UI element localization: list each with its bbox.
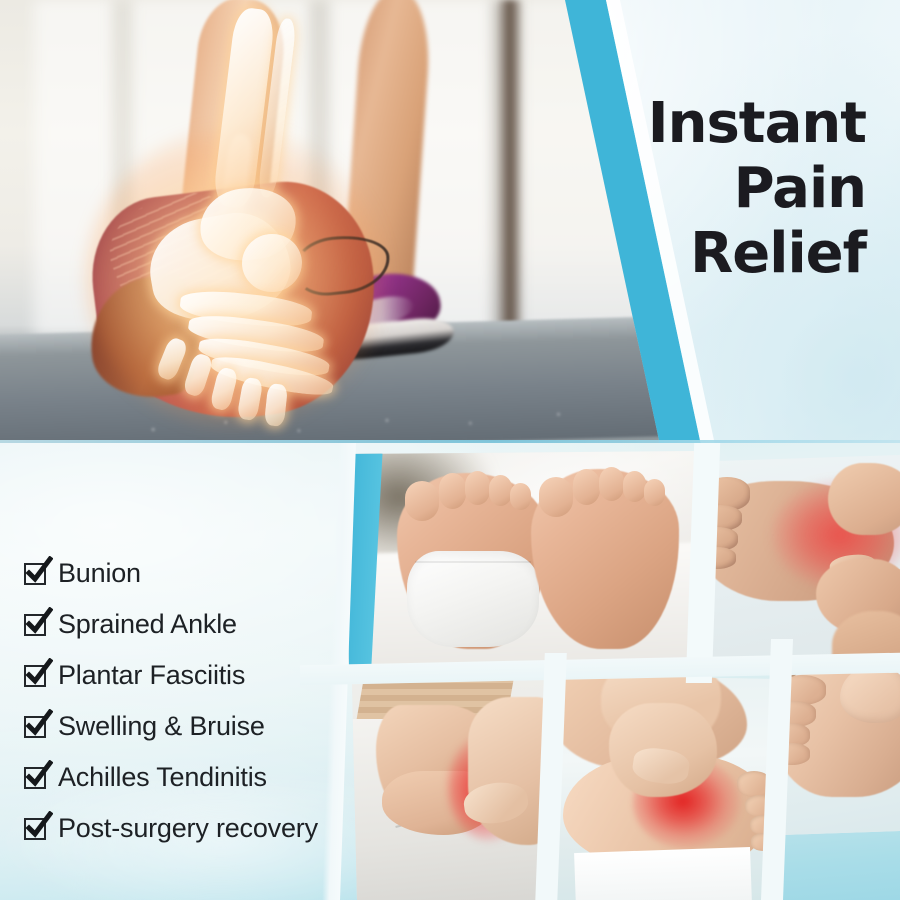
checklist-item: Post-surgery recovery xyxy=(24,803,389,854)
hero-section: Instant Pain Relief xyxy=(0,0,900,445)
checklist-item: Sprained Ankle xyxy=(24,599,389,650)
checklist-item: Swelling & Bruise xyxy=(24,701,389,752)
checklist-item-label: Plantar Fasciitis xyxy=(58,660,245,691)
checkbox-checked-icon xyxy=(24,614,46,636)
toes-group xyxy=(712,483,816,593)
checkbox-checked-icon xyxy=(24,716,46,738)
tile-a-image xyxy=(345,451,700,666)
photo-feet-with-patch xyxy=(345,451,700,666)
front-foot-group xyxy=(72,38,402,438)
checkbox-checked-icon xyxy=(24,767,46,789)
photo-sole-arch-pain xyxy=(557,671,775,900)
checklist-item-label: Bunion xyxy=(58,558,141,589)
upper-hand xyxy=(828,463,900,535)
headline: Instant Pain Relief xyxy=(536,92,866,287)
checkbox-checked-icon xyxy=(24,818,46,840)
checklist-item-label: Post-surgery recovery xyxy=(58,813,318,844)
checklist-item: Plantar Fasciitis xyxy=(24,650,389,701)
phalanx-5 xyxy=(264,383,288,427)
photo-hands-holding-foot xyxy=(712,455,900,665)
xray-bone-overlay xyxy=(72,38,402,438)
left-foot xyxy=(397,473,547,649)
checklist-item-label: Sprained Ankle xyxy=(58,609,237,640)
right-foot xyxy=(531,469,679,649)
product-marketing-image: Instant Pain Relief xyxy=(0,0,900,900)
tile-b-image xyxy=(712,455,900,665)
white-towel xyxy=(574,847,752,900)
checklist-item: Bunion xyxy=(24,548,389,599)
toes-group xyxy=(782,677,860,787)
checkbox-checked-icon xyxy=(24,563,46,585)
adhesive-patch xyxy=(407,551,539,647)
headline-line-1: Instant xyxy=(536,92,866,157)
headline-line-3: Relief xyxy=(536,222,866,287)
toes-group xyxy=(537,465,677,523)
checklist-item-label: Achilles Tendinitis xyxy=(58,762,267,793)
checklist-item: Achilles Tendinitis xyxy=(24,752,389,803)
checklist-item-label: Swelling & Bruise xyxy=(58,711,265,742)
toes-group xyxy=(403,469,543,527)
photo-bunion-closeup xyxy=(782,655,900,835)
benefits-checklist: Bunion Sprained Ankle Plantar Fasciitis … xyxy=(24,548,389,854)
tile-e-image xyxy=(782,655,900,835)
tile-d-image xyxy=(557,671,775,900)
checkbox-checked-icon xyxy=(24,665,46,687)
benefits-section: Bunion Sprained Ankle Plantar Fasciitis … xyxy=(0,443,900,900)
headline-line-2: Pain xyxy=(536,157,866,222)
